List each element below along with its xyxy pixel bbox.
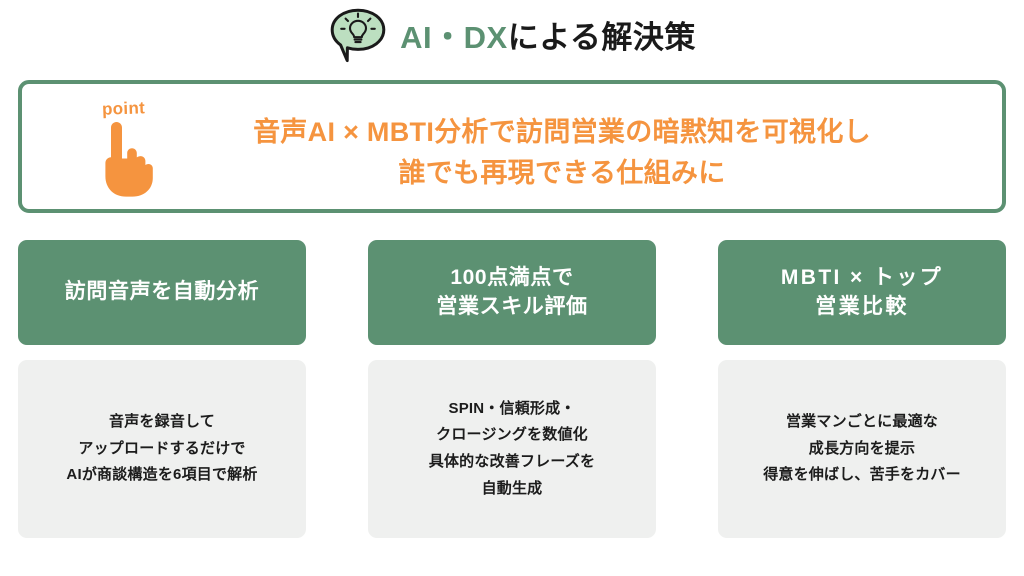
slide-title-row: AI・DXによる解決策 <box>0 4 1024 70</box>
feature-card-voice-analysis: 訪問音声を自動分析 音声を録音して アップロードするだけで AIが商談構造を6項… <box>18 240 306 540</box>
card-body-line: 自動生成 <box>429 476 595 503</box>
feature-card-skill-score: 100点満点で 営業スキル評価 SPIN・信頼形成・ クロージングを数値化 具体… <box>368 240 656 540</box>
point-badge: point <box>76 100 172 204</box>
card-body-mbti-compare: 営業マンごとに最適な 成長方向を提示 得意を伸ばし、苦手をカバー <box>718 360 1006 538</box>
feature-card-mbti-compare: MBTI × トップ 営業比較 営業マンごとに最適な 成長方向を提示 得意を伸ば… <box>718 240 1006 540</box>
card-header-line: 営業比較 <box>781 293 943 322</box>
card-body-skill-score: SPIN・信頼形成・ クロージングを数値化 具体的な改善フレーズを 自動生成 <box>368 360 656 538</box>
card-header-line: 100点満点で <box>436 264 587 293</box>
card-body-line: AIが商談構造を6項目で解析 <box>66 462 257 489</box>
card-body-line: クロージングを数値化 <box>429 422 595 449</box>
lightbulb-speech-bubble-icon <box>328 7 390 65</box>
card-header-voice-analysis: 訪問音声を自動分析 <box>18 240 306 345</box>
point-message-line-2: 誰でも再現できる仕組みに <box>172 153 952 194</box>
point-badge-label: point <box>102 99 146 117</box>
card-header-line: MBTI × トップ <box>781 264 943 293</box>
card-body-line: 得意を伸ばし、苦手をカバー <box>763 462 961 489</box>
card-body-line: 営業マンごとに最適な <box>763 409 961 436</box>
card-body-line: 音声を録音して <box>66 409 257 436</box>
page-title-rest: による解決策 <box>508 20 696 55</box>
page-title: AI・DXによる解決策 <box>400 22 696 53</box>
card-body-line: 具体的な改善フレーズを <box>429 449 595 476</box>
card-header-line: 訪問音声を自動分析 <box>65 278 259 307</box>
card-header-line: 営業スキル評価 <box>436 293 587 322</box>
card-header-skill-score: 100点満点で 営業スキル評価 <box>368 240 656 345</box>
point-message-line-1: 音声AI × MBTI分析で訪問営業の暗黙知を可視化し <box>172 112 952 153</box>
card-body-voice-analysis: 音声を録音して アップロードするだけで AIが商談構造を6項目で解析 <box>18 360 306 538</box>
point-message: 音声AI × MBTI分析で訪問営業の暗黙知を可視化し 誰でも再現できる仕組みに <box>172 112 952 194</box>
card-body-line: アップロードするだけで <box>66 436 257 463</box>
card-body-line: SPIN・信頼形成・ <box>429 396 595 423</box>
card-header-mbti-compare: MBTI × トップ 営業比較 <box>718 240 1006 345</box>
feature-card-row: 訪問音声を自動分析 音声を録音して アップロードするだけで AIが商談構造を6項… <box>18 240 1006 540</box>
pointing-hand-icon <box>94 118 154 198</box>
page-title-accent: AI・DX <box>400 20 508 55</box>
card-body-line: 成長方向を提示 <box>763 436 961 463</box>
point-callout-box: point 音声AI × MBTI分析で訪問営業の暗黙知を可視化し 誰でも再現で… <box>18 80 1006 213</box>
